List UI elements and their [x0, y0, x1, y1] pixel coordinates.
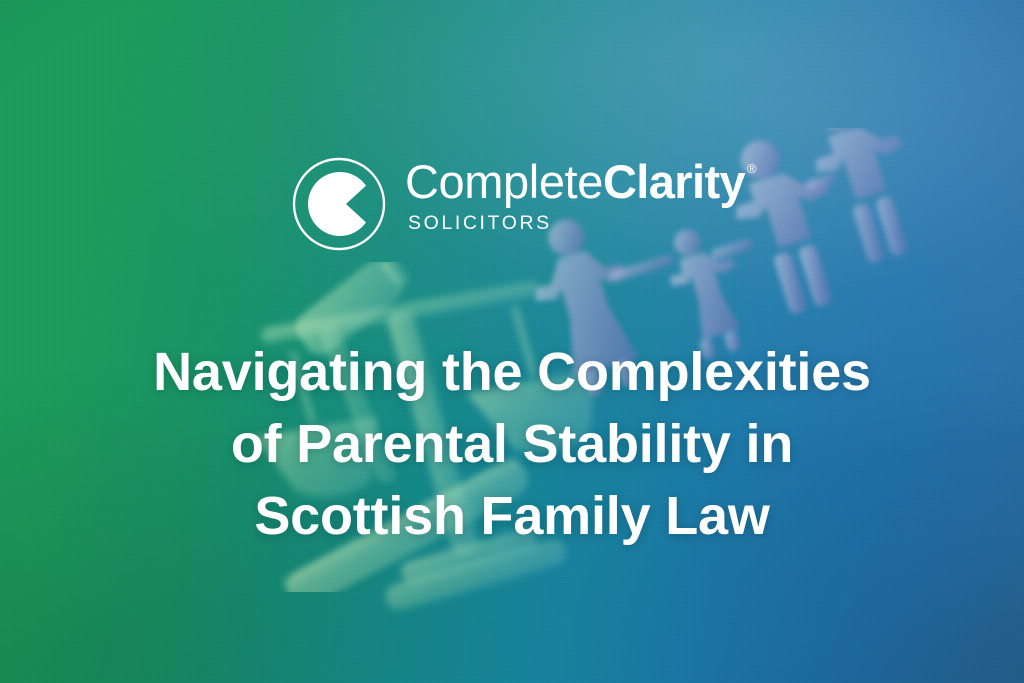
page-title: Navigating the Complexities of Parental …: [0, 336, 1024, 552]
brand-logo[interactable]: CompleteClarity® SOLICITORS: [291, 154, 737, 258]
headline-line-2: of Parental Stability in: [52, 408, 972, 480]
headline-line-3: Scottish Family Law: [52, 480, 972, 552]
blog-banner: CompleteClarity® SOLICITORS Navigating t…: [0, 0, 1024, 683]
brand-tagline: SOLICITORS: [408, 212, 756, 235]
brand-wordmark: CompleteClarity®: [405, 158, 756, 206]
wordmark-bold-part: Clarity: [603, 158, 745, 206]
brand-wordmark-block: CompleteClarity® SOLICITORS: [405, 154, 756, 235]
registered-trademark-icon: ®: [747, 162, 756, 175]
wordmark-light-part: Complete: [405, 158, 603, 206]
completeclarity-circle-c-icon: [291, 156, 387, 252]
headline-line-1: Navigating the Complexities: [52, 336, 972, 408]
